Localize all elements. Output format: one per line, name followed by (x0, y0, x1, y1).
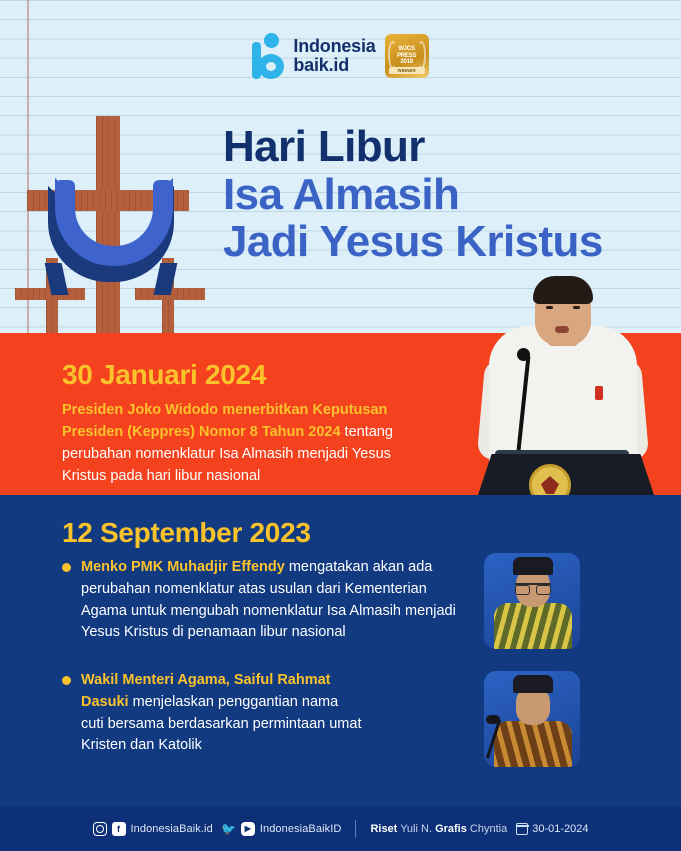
infographic-poster: Indonesia baik.id WJCS PRESS 2019 WINNER… (0, 0, 681, 851)
credit-riset-label: Riset (370, 823, 397, 835)
instagram-icon[interactable] (93, 822, 107, 836)
brand-line-2: baik.id (293, 55, 349, 75)
award-ribbon-label: WINNER (389, 67, 425, 74)
facebook-icon[interactable]: f (112, 822, 126, 836)
title-line-2: Isa Almasih (223, 171, 673, 219)
social-handle-1: IndonesiaBaik.id (131, 823, 213, 835)
orange-body-text: Presiden Joko Widodo menerbitkan Keputus… (62, 399, 422, 487)
orange-date-heading: 30 Januari 2024 (62, 359, 266, 391)
award-badge-icon: WJCS PRESS 2019 WINNER (385, 34, 429, 78)
orange-highlight-text: Presiden Joko Widodo menerbitkan Keputus… (62, 402, 387, 440)
footer-divider (355, 820, 356, 838)
award-line-2: PRESS (397, 53, 416, 60)
photo-joko-widodo (443, 268, 679, 496)
page-title: Hari Libur Isa Almasih Jadi Yesus Kristu… (223, 123, 673, 266)
bullet-2-text: Wakil Menteri Agama, Saiful Rahmat Dasuk… (81, 670, 362, 757)
brand-line-1: Indonesia (293, 36, 375, 56)
publish-date: 30-01-2024 (516, 823, 588, 835)
credit-line: Riset Yuli N. Grafis Chyntia (370, 823, 507, 835)
award-line-1: WJCS (398, 46, 415, 53)
brand-header: Indonesia baik.id WJCS PRESS 2019 WINNER (0, 28, 681, 84)
social-handle-2: IndonesiaBaikID (260, 823, 342, 835)
bullet-1-text: Menko PMK Muhadjir Effendy mengatakan ak… (81, 557, 462, 644)
calendar-icon (516, 823, 528, 835)
twitter-icon[interactable]: 🐦 (222, 822, 236, 836)
photo-saiful-rahmat-dasuki (484, 671, 580, 767)
footer-bar: f IndonesiaBaik.id 🐦 ▶ IndonesiaBaikID R… (0, 806, 681, 851)
list-item: Menko PMK Muhadjir Effendy mengatakan ak… (62, 557, 462, 644)
navy-date-heading: 12 September 2023 (62, 517, 311, 549)
bullet-1-highlight: Menko PMK Muhadjir Effendy (81, 559, 285, 575)
bullet-dot-icon (62, 676, 71, 685)
indonesia-baik-b-logo-icon (252, 33, 286, 79)
credit-riset-name: Yuli N. (400, 823, 432, 835)
indonesia-baik-logo[interactable]: Indonesia baik.id (252, 33, 375, 79)
credit-grafis-name: Chyntia (470, 823, 507, 835)
three-crosses-illustration (10, 110, 225, 335)
list-item: Wakil Menteri Agama, Saiful Rahmat Dasuk… (62, 670, 362, 757)
social-group-2[interactable]: 🐦 ▶ IndonesiaBaikID (222, 822, 342, 836)
credit-grafis-label: Grafis (435, 823, 467, 835)
brand-name: Indonesia baik.id (293, 37, 375, 75)
social-group-1[interactable]: f IndonesiaBaik.id (93, 822, 213, 836)
youtube-icon[interactable]: ▶ (241, 822, 255, 836)
title-line-1: Hari Libur (223, 123, 673, 171)
award-line-3: 2019 (400, 59, 413, 66)
bullet-dot-icon (62, 563, 71, 572)
photo-muhadjir-effendy (484, 553, 580, 649)
title-line-3: Jadi Yesus Kristus (223, 218, 673, 266)
publish-date-value: 30-01-2024 (532, 823, 588, 835)
